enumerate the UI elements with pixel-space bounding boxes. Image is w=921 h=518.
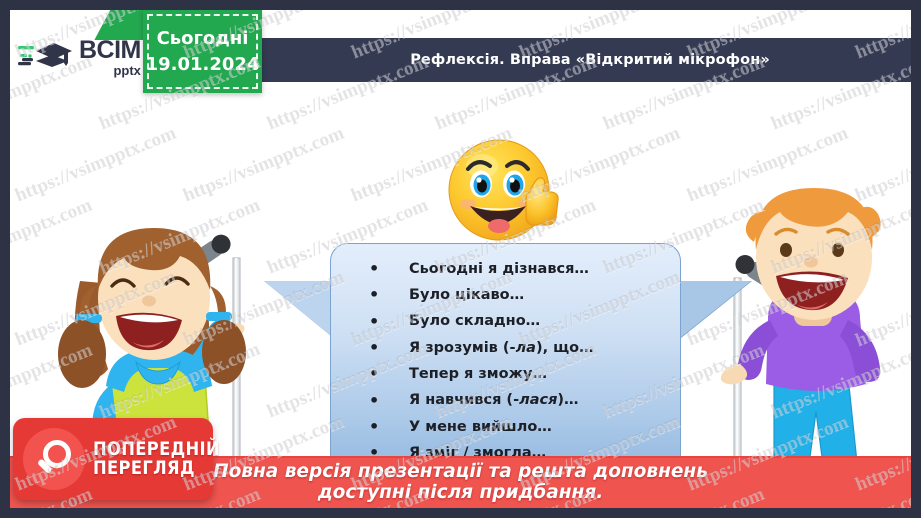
page-title: Рефлексія. Вправа «Відкритий мікрофон» (410, 52, 770, 68)
brand-logo: BCIM pptx (10, 28, 145, 86)
speech-bubble: Сьогодні я дізнався…Було цікаво…Було скл… (330, 243, 681, 474)
list-item: Було цікаво… (360, 282, 669, 308)
date-badge-date: 19.01.2024 (146, 54, 260, 75)
bubble-tail-right (681, 281, 751, 337)
list-item: Сьогодні я дізнався… (360, 256, 669, 282)
preview-badge: ПОПЕРЕДНІЙ ПЕРЕГЛЯД (13, 418, 213, 500)
slide-canvas: BCIM pptx Сьогодні 19.01.2024 Рефлексія.… (10, 10, 911, 508)
bubble-tail-left (264, 281, 330, 335)
list-item: Тепер я зможу… (360, 361, 669, 387)
reflection-prompt-list: Сьогодні я дізнався…Було цікаво…Було скл… (360, 256, 669, 466)
date-badge: Сьогодні 19.01.2024 (143, 10, 262, 93)
logo-subtitle: pptx (79, 64, 141, 77)
purchase-notice-line1: Повна версія презентації та решта доповн… (213, 462, 708, 483)
list-item: Я навчився (-лася)… (360, 387, 669, 413)
logo-title: BCIM (79, 38, 141, 63)
list-item: У мене вийшло… (360, 414, 669, 440)
list-item: Я зрозумів (-ла), що… (360, 335, 669, 361)
purchase-notice-line2: доступні після придбання. (318, 483, 604, 504)
header-bar: Рефлексія. Вправа «Відкритий мікрофон» (259, 38, 911, 82)
date-badge-label: Сьогодні (157, 28, 249, 49)
list-item: Було складно… (360, 309, 669, 335)
preview-badge-line2: ПЕРЕГЛЯД (93, 459, 220, 478)
magnifier-icon (23, 428, 85, 490)
smiley-thumbs-up-icon (446, 130, 562, 248)
slide-frame: BCIM pptx Сьогодні 19.01.2024 Рефлексія.… (0, 0, 921, 518)
watermark-text: https://vsimpptx.com (10, 267, 11, 352)
graduation-cap-icon (18, 37, 74, 77)
watermark-text: https://vsimpptx.com (10, 123, 11, 208)
